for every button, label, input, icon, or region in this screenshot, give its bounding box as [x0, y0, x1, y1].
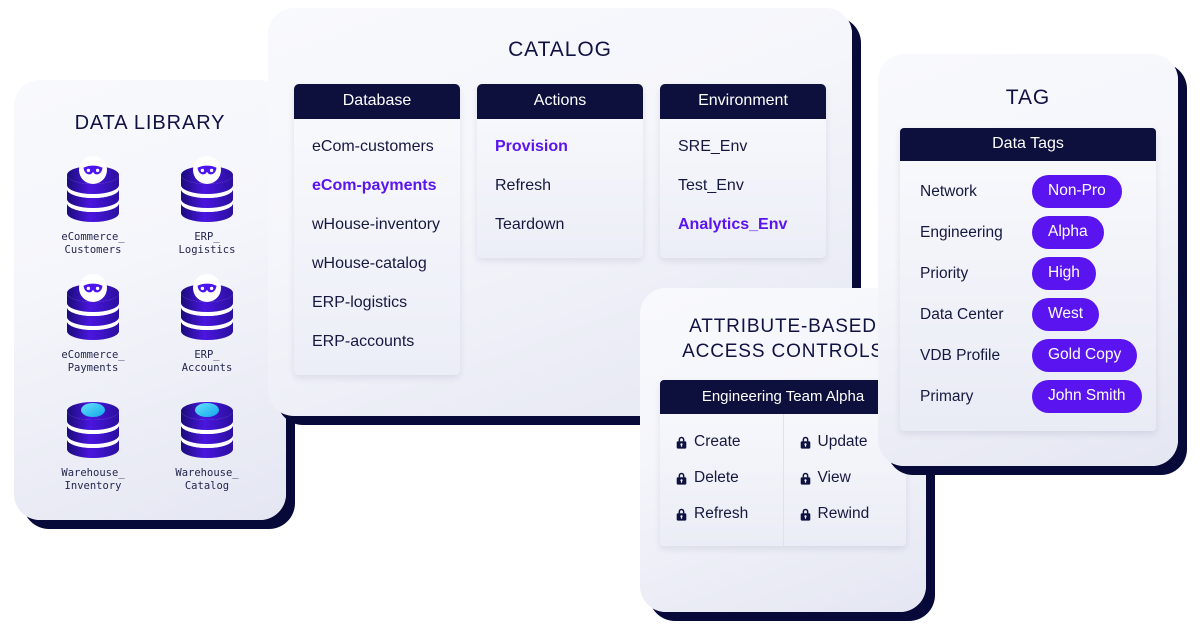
- catalog-column-list: SRE_EnvTest_EnvAnalytics_Env: [660, 119, 826, 258]
- catalog-item[interactable]: Test_Env: [660, 166, 826, 205]
- tag-value-pill[interactable]: Non-Pro: [1032, 175, 1122, 208]
- data-tags-header: Data Tags: [900, 128, 1156, 161]
- tag-row: EngineeringAlpha: [900, 212, 1156, 253]
- database-grid: eCommerce_ Customers: [14, 153, 286, 493]
- permission-item[interactable]: Delete: [660, 460, 783, 496]
- database-item[interactable]: ERP_ Accounts: [150, 271, 264, 375]
- database-item[interactable]: Warehouse_ Catalog: [150, 389, 264, 493]
- tag-panel: TAG Data Tags NetworkNon-ProEngineeringA…: [878, 54, 1178, 466]
- tag-row: VDB ProfileGold Copy: [900, 335, 1156, 376]
- permission-item-label: Refresh: [694, 505, 748, 523]
- catalog-item[interactable]: wHouse-catalog: [294, 244, 460, 283]
- database-item-label: Warehouse_ Catalog: [175, 467, 238, 493]
- tag-value-pill[interactable]: Alpha: [1032, 216, 1104, 249]
- database-mask-icon: [62, 271, 124, 343]
- tag-value-pill[interactable]: High: [1032, 257, 1096, 290]
- database-disk-icon: [176, 389, 238, 461]
- permission-item[interactable]: View: [784, 460, 907, 496]
- database-mask-icon: [176, 153, 238, 225]
- database-item[interactable]: eCommerce_ Payments: [36, 271, 150, 375]
- database-item-label: ERP_ Accounts: [182, 349, 233, 375]
- catalog-item[interactable]: SRE_Env: [660, 127, 826, 166]
- data-tags-rows: NetworkNon-ProEngineeringAlphaPriorityHi…: [900, 161, 1156, 431]
- catalog-item[interactable]: ERP-accounts: [294, 322, 460, 361]
- catalog-item[interactable]: eCom-payments: [294, 166, 460, 205]
- permission-item-label: View: [818, 469, 851, 487]
- catalog-item[interactable]: Refresh: [477, 166, 643, 205]
- catalog-column: DatabaseeCom-customerseCom-paymentswHous…: [294, 84, 460, 375]
- permission-item-label: Update: [818, 433, 868, 451]
- data-library-title: DATA LIBRARY: [14, 112, 286, 135]
- permission-item-label: Rewind: [818, 505, 870, 523]
- tag-row: PriorityHigh: [900, 253, 1156, 294]
- catalog-column-header: Environment: [660, 84, 826, 119]
- catalog-item[interactable]: eCom-customers: [294, 127, 460, 166]
- database-item[interactable]: eCommerce_ Customers: [36, 153, 150, 257]
- tag-key: Engineering: [920, 224, 1032, 242]
- tag-row: PrimaryJohn Smith: [900, 376, 1156, 417]
- catalog-item[interactable]: Teardown: [477, 205, 643, 244]
- catalog-column-header: Actions: [477, 84, 643, 119]
- lock-icon: [676, 472, 687, 485]
- tag-title: TAG: [878, 86, 1178, 110]
- data-tags-card: Data Tags NetworkNon-ProEngineeringAlpha…: [900, 128, 1156, 431]
- database-mask-icon: [62, 153, 124, 225]
- tag-key: Network: [920, 183, 1032, 201]
- team-name-header: Engineering Team Alpha: [660, 380, 906, 414]
- catalog-column-list: ProvisionRefreshTeardown: [477, 119, 643, 258]
- permission-item-label: Create: [694, 433, 741, 451]
- database-item-label: eCommerce_ Customers: [61, 231, 124, 257]
- catalog-column-list: eCom-customerseCom-paymentswHouse-invent…: [294, 119, 460, 375]
- lock-icon: [676, 436, 687, 449]
- catalog-title: CATALOG: [268, 38, 852, 62]
- permission-column: Create Delete Refresh: [660, 414, 783, 546]
- data-library-panel: DATA LIBRARY: [14, 80, 286, 520]
- tag-key: VDB Profile: [920, 347, 1032, 365]
- catalog-column: EnvironmentSRE_EnvTest_EnvAnalytics_Env: [660, 84, 826, 258]
- catalog-item[interactable]: ERP-logistics: [294, 283, 460, 322]
- team-permissions-card: Engineering Team Alpha Create Delete Ref…: [660, 380, 906, 546]
- permission-item[interactable]: Refresh: [660, 496, 783, 532]
- database-disk-icon: [62, 389, 124, 461]
- tag-row: NetworkNon-Pro: [900, 171, 1156, 212]
- tag-row: Data CenterWest: [900, 294, 1156, 335]
- database-mask-icon: [176, 271, 238, 343]
- database-item-label: Warehouse_ Inventory: [61, 467, 124, 493]
- catalog-item[interactable]: wHouse-inventory: [294, 205, 460, 244]
- database-item-label: eCommerce_ Payments: [61, 349, 124, 375]
- lock-icon: [800, 472, 811, 485]
- catalog-column-header: Database: [294, 84, 460, 119]
- permission-item-label: Delete: [694, 469, 739, 487]
- catalog-item[interactable]: Provision: [477, 127, 643, 166]
- tag-key: Primary: [920, 388, 1032, 406]
- tag-key: Data Center: [920, 306, 1032, 324]
- catalog-column: ActionsProvisionRefreshTeardown: [477, 84, 643, 258]
- lock-icon: [800, 508, 811, 521]
- tag-value-pill[interactable]: Gold Copy: [1032, 339, 1137, 372]
- catalog-item[interactable]: Analytics_Env: [660, 205, 826, 244]
- lock-icon: [800, 436, 811, 449]
- lock-icon: [676, 508, 687, 521]
- database-item[interactable]: ERP_ Logistics: [150, 153, 264, 257]
- permissions-body: Create Delete Refresh Update View Rewind: [660, 414, 906, 546]
- tag-value-pill[interactable]: West: [1032, 298, 1099, 331]
- database-item[interactable]: Warehouse_ Inventory: [36, 389, 150, 493]
- permission-item[interactable]: Rewind: [784, 496, 907, 532]
- permission-item[interactable]: Create: [660, 424, 783, 460]
- tag-value-pill[interactable]: John Smith: [1032, 380, 1142, 413]
- tag-key: Priority: [920, 265, 1032, 283]
- database-item-label: ERP_ Logistics: [179, 231, 236, 257]
